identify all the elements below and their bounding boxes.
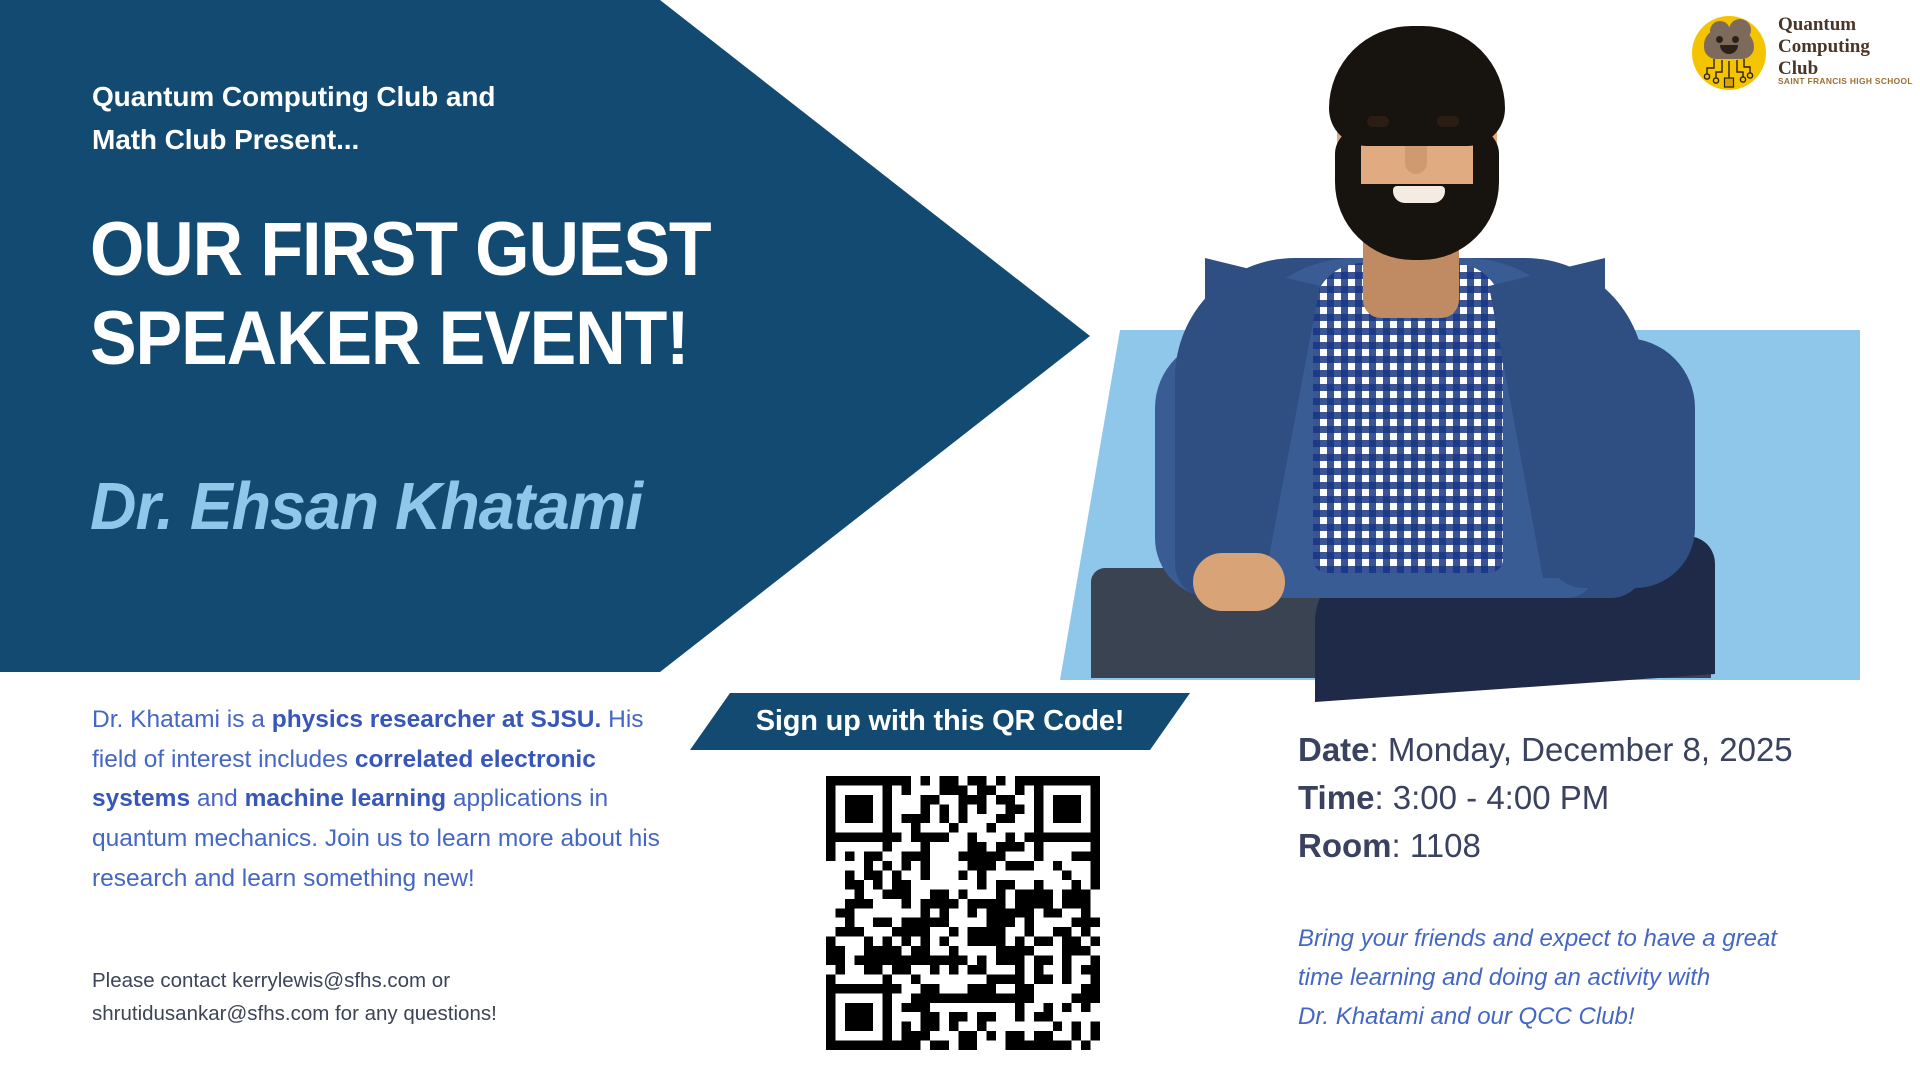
logo-name-line-2: Computing (1778, 36, 1908, 58)
cloud-face-icon (1692, 16, 1766, 90)
left-eye-shape (1367, 116, 1389, 127)
cloud-right-eye-icon (1732, 36, 1739, 43)
kicker-line-1: Quantum Computing Club and (92, 76, 712, 119)
qr-banner: Sign up with this QR Code! (690, 693, 1190, 750)
qr-code-icon[interactable] (826, 776, 1100, 1050)
hand-shape (1193, 553, 1285, 611)
hero-section: Quantum Computing Club and Math Club Pre… (0, 0, 1920, 672)
speaker-name: Dr. Ehsan Khatami (90, 468, 877, 545)
event-date: Date: Monday, December 8, 2025 (1298, 726, 1898, 774)
event-room: Room: 1108 (1298, 822, 1898, 870)
desc-bold-1: physics researcher at SJSU. (272, 706, 602, 733)
desc-part-3: and (190, 785, 245, 812)
title-line-2: SPEAKER EVENT! (90, 295, 789, 384)
contact-line-2: shrutidusankar@sfhs.com for any question… (92, 998, 622, 1031)
time-label: Time (1298, 779, 1374, 816)
kicker-line-2: Math Club Present... (92, 119, 712, 162)
qr-banner-label: Sign up with this QR Code! (756, 705, 1125, 738)
title-line-1: OUR FIRST GUEST (90, 206, 789, 295)
logo-club-name: Quantum Computing Club (1778, 14, 1908, 81)
right-arm-shape (1545, 338, 1695, 588)
speaker-description: Dr. Khatami is a physics researcher at S… (92, 700, 672, 898)
logo-school-name: SAINT FRANCIS HIGH SCHOOL (1778, 76, 1918, 86)
date-label: Date (1298, 731, 1370, 768)
closing-line-3: Dr. Khatami and our QCC Club! (1298, 998, 1878, 1037)
logo-name-line-1: Quantum (1778, 14, 1908, 36)
date-value: : Monday, December 8, 2025 (1370, 731, 1793, 768)
desc-part-1: Dr. Khatami is a (92, 706, 272, 733)
right-eye-shape (1437, 116, 1459, 127)
contact-info: Please contact kerrylewis@sfhs.com or sh… (92, 965, 622, 1031)
room-label: Room (1298, 827, 1392, 864)
cloud-left-eye-icon (1716, 36, 1723, 43)
hair-shape (1329, 26, 1505, 146)
page-title: OUR FIRST GUEST SPEAKER EVENT! (90, 206, 789, 384)
closing-line-2: time learning and doing an activity with (1298, 959, 1878, 998)
room-value: : 1108 (1392, 827, 1481, 864)
speaker-photo (1085, 8, 1725, 680)
contact-line-1: Please contact kerrylewis@sfhs.com or (92, 965, 622, 998)
kicker-text: Quantum Computing Club and Math Club Pre… (92, 76, 712, 161)
desc-bold-3: machine learning (245, 785, 447, 812)
event-time: Time: 3:00 - 4:00 PM (1298, 774, 1898, 822)
mouth-shape (1393, 186, 1445, 203)
time-value: : 3:00 - 4:00 PM (1374, 779, 1609, 816)
club-logo: Quantum Computing Club SAINT FRANCIS HIG… (1692, 14, 1908, 94)
closing-line-1: Bring your friends and expect to have a … (1298, 920, 1878, 959)
event-details: Date: Monday, December 8, 2025 Time: 3:0… (1298, 726, 1898, 871)
closing-message: Bring your friends and expect to have a … (1298, 920, 1878, 1037)
